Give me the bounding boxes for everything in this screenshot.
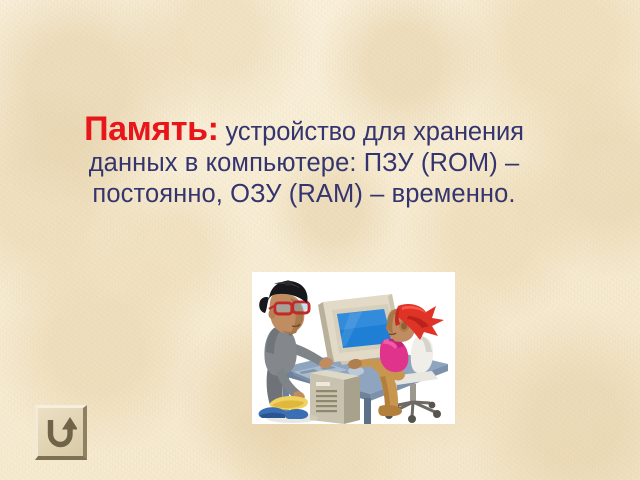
slide-body-text: Память: устройство для хранения данных в… [34,112,574,207]
keyword-pamyat: Память: [84,110,218,148]
text-line-2: данных в компьютере: ПЗУ (ROM) – [34,151,574,177]
u-turn-arrow-icon [45,415,77,449]
illustration-frame [252,272,455,424]
two-people-at-computer-clipart [252,272,455,424]
text-line-1-rest: устройство для хранения [219,118,524,146]
text-line-3: постоянно, ОЗУ (RAM) – временно. [34,182,574,208]
slide-canvas: Память: устройство для хранения данных в… [0,0,640,480]
return-u-turn-button[interactable] [35,405,87,460]
text-line-1: Память: устройство для хранения [34,112,574,146]
